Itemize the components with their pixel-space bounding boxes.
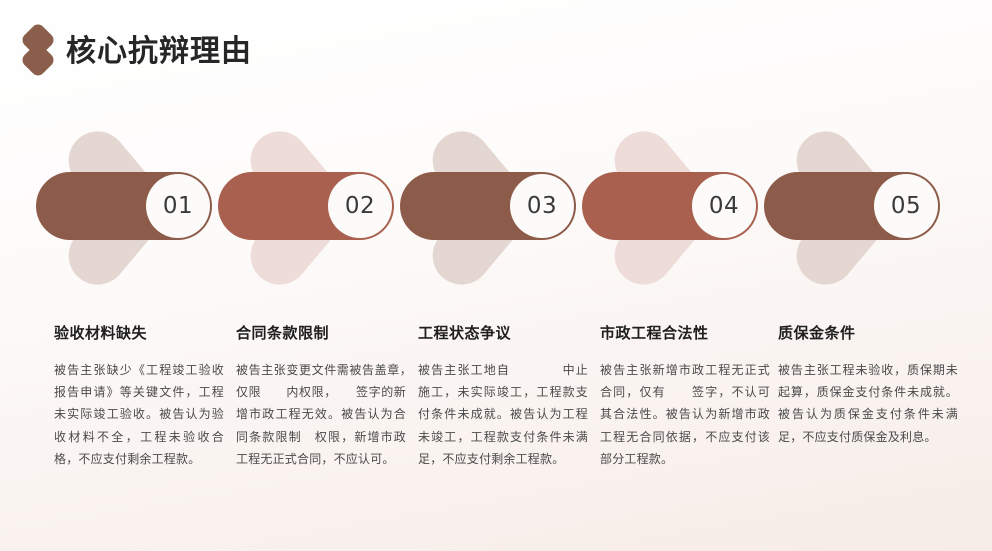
step-bar-2: 02 [218,172,394,240]
step-number-4: 04 [692,174,756,238]
step-bar-4: 04 [582,172,758,240]
step-card-1: 验收材料缺失 被告主张缺少《工程竣工验收报告申请》等关键文件，工程未实际竣工验收… [54,325,224,470]
step-title-5: 质保金条件 [778,325,958,343]
step-body-wrap-1: 被告主张缺少《工程竣工验收报告申请》等关键文件，工程未实际竣工验收。被告认为验收… [54,359,224,470]
step-number-1: 01 [146,174,210,238]
step-body-5: 被告主张工程未验收，质保期未起算，质保金支付条件未成就。被告认为质保金支付条件未… [778,359,958,448]
step-body-2: 被告主张变更文件需被告盖章， 仅限 内权限， 签字的新增市政工程无效。被告认为合… [236,359,406,470]
step-card-4: 市政工程合法性 被告主张新增市政工程无正式合同，仅有 签字，不认可其合法性。被告… [600,325,770,470]
step-number-5: 05 [874,174,938,238]
step-body-wrap-2: 被告主张变更文件需被告盖章， 仅限 内权限， 签字的新增市政工程无效。被告认为合… [236,359,406,470]
step-card-3: 工程状态争议 被告主张工地自 中止施工，未实际竣工，工程款支付条件未成就。被告认… [418,325,588,470]
step-arrow-3[interactable]: 03 [394,118,580,298]
step-arrow-4[interactable]: 04 [576,118,762,298]
step-text-columns: 验收材料缺失 被告主张缺少《工程竣工验收报告申请》等关键文件，工程未实际竣工验收… [0,325,992,551]
step-arrow-row: 01 02 03 04 [0,118,992,298]
step-arrow-2[interactable]: 02 [212,118,398,298]
step-title-3: 工程状态争议 [418,325,588,343]
page-title: 核心抗辩理由 [66,37,252,67]
step-number-3: 03 [510,174,574,238]
slide-root: 核心抗辩理由 01 02 03 [0,0,992,551]
step-body-4: 被告主张新增市政工程无正式合同，仅有 签字，不认可其合法性。被告认为新增市政工程… [600,359,770,470]
step-bar-5: 05 [764,172,940,240]
step-arrow-5[interactable]: 05 [758,118,944,298]
step-title-1: 验收材料缺失 [54,325,224,343]
step-bar-3: 03 [400,172,576,240]
step-card-2: 合同条款限制 被告主张变更文件需被告盖章， 仅限 内权限， 签字的新增市政工程无… [236,325,406,470]
step-arrow-1[interactable]: 01 [30,118,216,298]
step-number-2: 02 [328,174,392,238]
step-body-wrap-5: 被告主张工程未验收，质保期未起算，质保金支付条件未成就。被告认为质保金支付条件未… [778,359,958,448]
step-body-1: 被告主张缺少《工程竣工验收报告申请》等关键文件，工程未实际竣工验收。被告认为验收… [54,359,224,470]
step-card-5: 质保金条件 被告主张工程未验收，质保期未起算，质保金支付条件未成就。被告认为质保… [778,325,958,448]
diamond-mark-icon [14,24,62,80]
step-title-2: 合同条款限制 [236,325,406,343]
step-body-wrap-4: 被告主张新增市政工程无正式合同，仅有 签字，不认可其合法性。被告认为新增市政工程… [600,359,770,470]
step-body-3: 被告主张工地自 中止施工，未实际竣工，工程款支付条件未成就。被告认为工程未竣工，… [418,359,588,470]
step-title-4: 市政工程合法性 [600,325,770,343]
step-bar-1: 01 [36,172,212,240]
slide-header: 核心抗辩理由 [14,22,252,82]
step-body-wrap-3: 被告主张工地自 中止施工，未实际竣工，工程款支付条件未成就。被告认为工程未竣工，… [418,359,588,470]
